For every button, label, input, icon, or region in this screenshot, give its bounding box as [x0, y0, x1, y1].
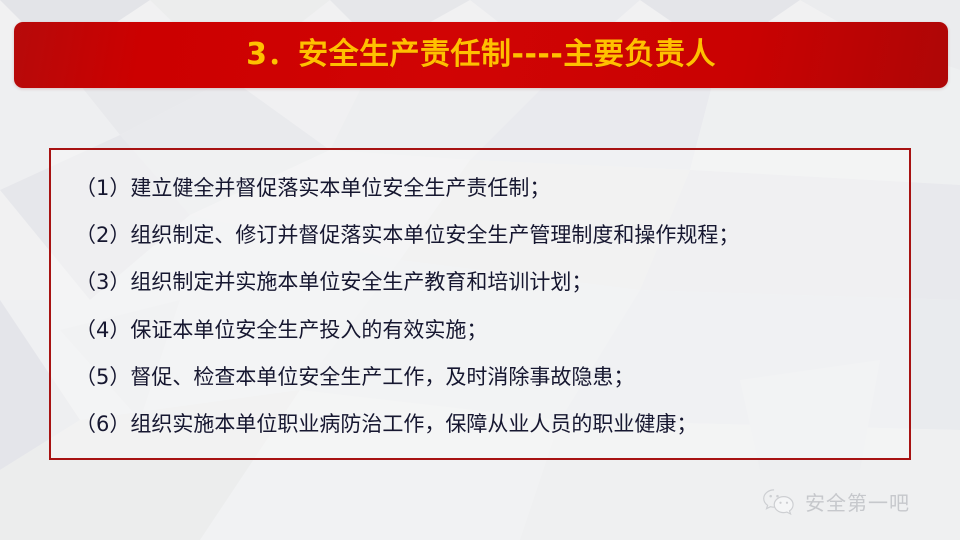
clause-item-1: （1）建立健全并督促落实本单位安全生产责任制； — [71, 175, 889, 201]
page-title: 3．安全生产责任制----主要负责人 — [246, 40, 716, 70]
clause-item-6: （6）组织实施本单位职业病防治工作，保障从业人员的职业健康； — [71, 411, 889, 437]
clause-item-5: （5）督促、检查本单位安全生产工作，及时消除事故隐患； — [71, 364, 889, 390]
clause-item-4: （4）保证本单位安全生产投入的有效实施； — [71, 317, 889, 343]
wechat-icon — [762, 488, 796, 516]
title-banner: 3．安全生产责任制----主要负责人 — [14, 22, 948, 88]
slide-canvas: 3．安全生产责任制----主要负责人 （1）建立健全并督促落实本单位安全生产责任… — [0, 0, 960, 540]
content-box: （1）建立健全并督促落实本单位安全生产责任制； （2）组织制定、修订并督促落实本… — [49, 148, 911, 460]
clause-item-3: （3）组织制定并实施本单位安全生产教育和培训计划； — [71, 269, 889, 295]
clause-item-2: （2）组织制定、修订并督促落实本单位安全生产管理制度和操作规程； — [71, 222, 889, 248]
watermark: 安全第一吧 — [762, 487, 910, 516]
watermark-label: 安全第一吧 — [805, 487, 910, 516]
